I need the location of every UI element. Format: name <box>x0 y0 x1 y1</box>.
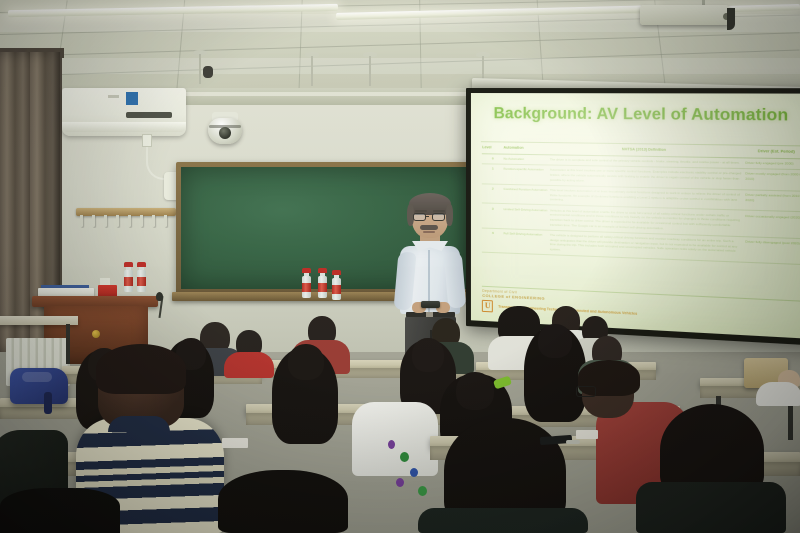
projector-shadow <box>727 8 735 30</box>
coat-hook <box>104 215 107 227</box>
desk-item <box>566 440 580 444</box>
camera-lens-icon <box>219 127 231 139</box>
water-bottle <box>302 268 311 298</box>
eyeglasses-icon <box>432 213 445 221</box>
eyeglasses-bridge <box>425 216 429 217</box>
air-conditioner-label <box>126 92 138 105</box>
polo-collar <box>108 416 170 432</box>
cell-level: 1 <box>482 167 503 181</box>
lecturer-right-arm <box>444 251 467 308</box>
belt-buckle <box>426 312 433 317</box>
ceiling-mount-rod <box>369 56 371 86</box>
cell-driver: Driver occasionally engaged (2020) <box>745 214 800 236</box>
cell-definition: Vehicles at this level of automation ena… <box>550 208 746 233</box>
air-conditioner-display <box>126 112 172 118</box>
slide-surface: Background: AV Level of Automation Level… <box>471 93 800 339</box>
cell-level: 4 <box>482 231 503 250</box>
ceiling-mount-rod <box>199 54 201 84</box>
mustache <box>420 225 438 230</box>
water-bottle <box>318 268 327 298</box>
cell-automation: Combined Function Automation <box>504 187 550 202</box>
cell-driver: Driver mostly engaged (from 2000 to 2010… <box>745 172 800 188</box>
presentation-clicker <box>421 301 440 308</box>
cell-automation: No Automation <box>504 157 550 162</box>
coat-hook <box>116 215 119 227</box>
coat-hook <box>80 215 83 227</box>
water-bottle <box>124 262 133 292</box>
cell-level: 2 <box>482 186 503 201</box>
slide-title: Background: AV Level of Automation <box>494 106 789 127</box>
classroom-photo: Background: AV Level of Automation Level… <box>0 0 800 533</box>
air-conditioner-vent <box>62 122 186 132</box>
student-hair <box>96 344 186 394</box>
coat-hook <box>140 215 143 227</box>
ceiling-projector <box>640 5 732 25</box>
paper-sheet <box>576 430 598 439</box>
coat-rack <box>76 208 176 216</box>
cell-definition: This level involves automation of at lea… <box>550 188 746 207</box>
automation-levels-table: Level Automation NHTSA (2013) Definition… <box>482 145 800 265</box>
coat-hook <box>152 215 155 227</box>
paper-sheet <box>222 438 248 448</box>
cell-automation: Function-specific Automation <box>504 167 550 182</box>
cell-definition: Automation at this level involves one or… <box>550 168 746 187</box>
cell-driver: Driver partially assisted (from 2010 to … <box>745 193 800 209</box>
col-header-automation: Automation <box>504 146 550 152</box>
lectern-knob <box>92 330 100 338</box>
coat-hook <box>164 215 167 227</box>
lecturer-brow <box>433 210 445 212</box>
lecturer-mouth <box>423 231 435 233</box>
cell-automation: Limited Self-Driving Automation <box>504 207 550 227</box>
lecturer-hair-side <box>446 204 453 226</box>
cell-level: 3 <box>482 206 503 225</box>
wall-socket <box>142 134 152 147</box>
cell-driver: Driver fully engaged (pre 2000) <box>745 161 800 167</box>
coat-hook <box>128 215 131 227</box>
air-conditioner-indicator <box>108 95 119 98</box>
microphone-icon <box>156 292 163 301</box>
cell-automation: Full Self-Driving Automation <box>504 231 550 251</box>
university-logo: U <box>482 300 493 313</box>
water-bottle <box>137 262 146 292</box>
cell-driver: Driver fully disengaged (post 2020) <box>745 240 800 262</box>
cell-definition: The vehicle is designed to perform all s… <box>550 233 746 259</box>
cell-level: 0 <box>482 156 503 161</box>
ceiling-speaker <box>203 66 213 78</box>
cell-definition: The driver is in complete and sole contr… <box>550 157 746 165</box>
coat-hook <box>92 215 95 227</box>
lecturer-brow <box>415 210 427 212</box>
col-header-level: Level <box>482 145 503 151</box>
student-silhouette <box>0 488 120 533</box>
col-header-driver: Driver (Est. Period) <box>745 149 800 156</box>
col-header-definition: NHTSA (2013) Definition <box>550 146 746 154</box>
water-bottle <box>332 270 341 300</box>
ceiling-mount-rod <box>311 56 313 86</box>
eyeglasses-icon <box>576 386 596 397</box>
student-silhouette <box>218 470 348 533</box>
